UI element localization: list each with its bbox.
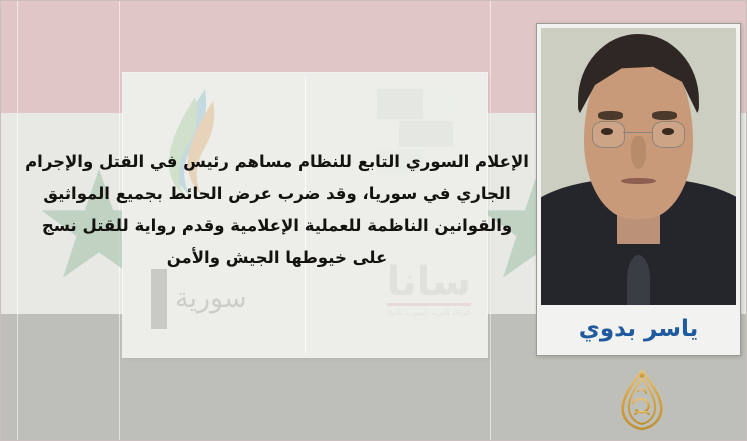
eyebrow-right bbox=[652, 111, 677, 120]
sana-watermark-subtitle: الوكالة العربية السورية للأنباء bbox=[387, 309, 471, 317]
glasses-bridge bbox=[623, 132, 652, 134]
quote-line: على خيوطها الجيش والأمن bbox=[23, 242, 531, 274]
syria-watermark-label: سورية bbox=[175, 283, 247, 314]
quote-line: والقوانين الناظمة للعملية الإعلامية وقدم… bbox=[23, 210, 531, 242]
syria-watermark-block bbox=[151, 269, 167, 329]
quote-line: الجاري في سوريا، وقد ضرب عرض الحائط بجمي… bbox=[23, 178, 531, 210]
quote-text: الإعلام السوري التابع للنظام مساهم رئيس … bbox=[23, 146, 531, 274]
mouth-shape bbox=[621, 178, 656, 185]
quote-line: الإعلام السوري التابع للنظام مساهم رئيس … bbox=[23, 146, 531, 178]
speaker-card: صورة شخصية لرجل يرتدي نظارة وقميصاً داكن… bbox=[536, 23, 741, 356]
speaker-photo: صورة شخصية لرجل يرتدي نظارة وقميصاً داكن… bbox=[541, 28, 736, 305]
eye-right bbox=[662, 128, 674, 135]
al-jazeera-logo-icon bbox=[613, 369, 671, 431]
background-seam bbox=[17, 1, 18, 440]
eyebrow-left bbox=[598, 111, 623, 120]
speaker-name: ياسر بدوي bbox=[541, 305, 736, 353]
news-quote-graphic: سورية سانا الوكالة العربية السورية للأنب… bbox=[0, 0, 747, 441]
shirt-collar bbox=[627, 255, 650, 305]
eye-left bbox=[601, 128, 613, 135]
